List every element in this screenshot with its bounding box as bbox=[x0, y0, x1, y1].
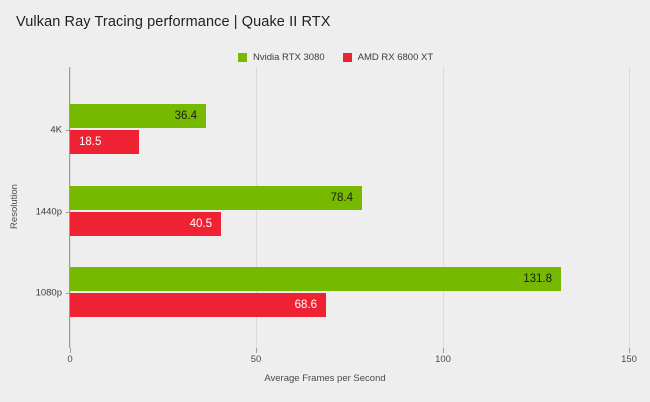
y-axis-title: Resolution bbox=[9, 184, 20, 229]
chart-legend: Nvidia RTX 3080 AMD RX 6800 XT bbox=[238, 50, 451, 64]
bar-nvidia-1440p[interactable]: 78.4 bbox=[70, 186, 362, 210]
bar-value-nvidia-1080p: 131.8 bbox=[514, 273, 561, 285]
bar-amd-1080p[interactable]: 68.6 bbox=[70, 293, 326, 317]
legend-swatch-red-icon bbox=[343, 53, 352, 62]
y-tick-label-4k: 4K bbox=[50, 125, 62, 136]
x-tick-mark-150 bbox=[629, 348, 630, 353]
bar-value-amd-1080p: 68.6 bbox=[286, 299, 326, 311]
y-tick-mark-4k bbox=[66, 130, 70, 131]
bar-value-amd-4k: 18.5 bbox=[70, 136, 110, 148]
x-tick-label-150: 150 bbox=[621, 354, 637, 365]
x-axis-title: Average Frames per Second bbox=[0, 373, 650, 384]
x-tick-mark-50 bbox=[256, 348, 257, 353]
gridline-100 bbox=[443, 67, 444, 348]
y-tick-label-1080p: 1080p bbox=[36, 288, 62, 299]
legend-label-amd: AMD RX 6800 XT bbox=[358, 52, 434, 63]
y-tick-mark-1440p bbox=[66, 212, 70, 213]
plot-area: 36.4 18.5 78.4 40.5 131.8 68.6 bbox=[70, 67, 630, 348]
legend-label-nvidia: Nvidia RTX 3080 bbox=[253, 52, 325, 63]
x-tick-mark-0 bbox=[70, 348, 71, 353]
bar-nvidia-1080p[interactable]: 131.8 bbox=[70, 267, 561, 291]
bar-amd-4k[interactable]: 18.5 bbox=[70, 130, 139, 154]
x-tick-label-50: 50 bbox=[251, 354, 262, 365]
bar-value-amd-1440p: 40.5 bbox=[181, 218, 221, 230]
x-tick-label-100: 100 bbox=[435, 354, 451, 365]
chart-container: Vulkan Ray Tracing performance | Quake I… bbox=[0, 0, 650, 402]
x-tick-label-0: 0 bbox=[67, 354, 72, 365]
bar-value-nvidia-1440p: 78.4 bbox=[322, 192, 362, 204]
x-tick-mark-100 bbox=[443, 348, 444, 353]
chart-title: Vulkan Ray Tracing performance | Quake I… bbox=[16, 14, 331, 30]
legend-item-amd: AMD RX 6800 XT bbox=[343, 52, 434, 63]
y-tick-label-1440p: 1440p bbox=[36, 207, 62, 218]
gridline-150 bbox=[629, 67, 630, 348]
y-tick-mark-1080p bbox=[66, 293, 70, 294]
legend-item-nvidia: Nvidia RTX 3080 bbox=[238, 52, 325, 63]
bar-nvidia-4k[interactable]: 36.4 bbox=[70, 104, 206, 128]
bar-value-nvidia-4k: 36.4 bbox=[166, 110, 206, 122]
legend-swatch-green-icon bbox=[238, 53, 247, 62]
bar-amd-1440p[interactable]: 40.5 bbox=[70, 212, 221, 236]
